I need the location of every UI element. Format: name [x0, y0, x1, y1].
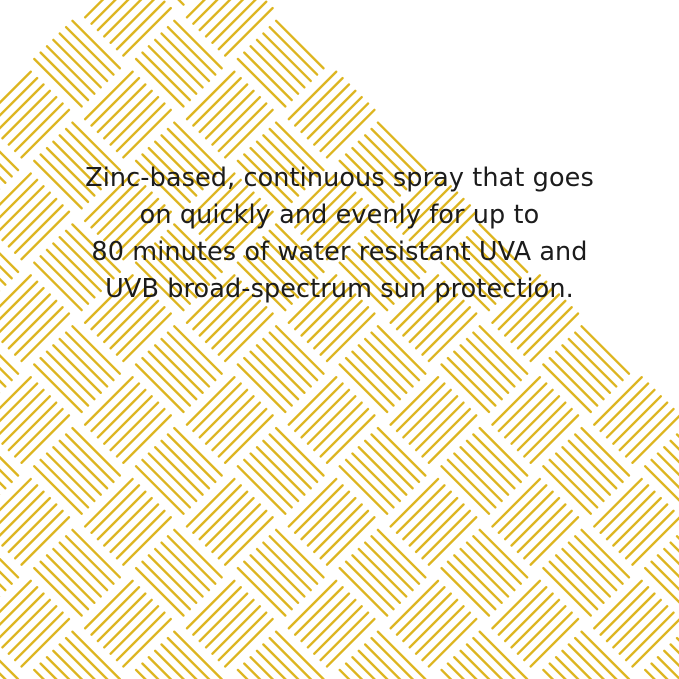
- description-line-1: Zinc-based, continuous spray that goes: [38, 160, 641, 197]
- description-line-2: on quickly and evenly for up to: [38, 197, 641, 234]
- product-description: Zinc-based, continuous spray that goes o…: [0, 160, 679, 308]
- description-line-4: UVB broad-spectrum sun protection.: [38, 271, 641, 308]
- description-line-3: 80 minutes of water resistant UVA and: [38, 234, 641, 271]
- basket-weave-pattern: [0, 0, 679, 679]
- product-description-panel: Zinc-based, continuous spray that goes o…: [0, 0, 679, 679]
